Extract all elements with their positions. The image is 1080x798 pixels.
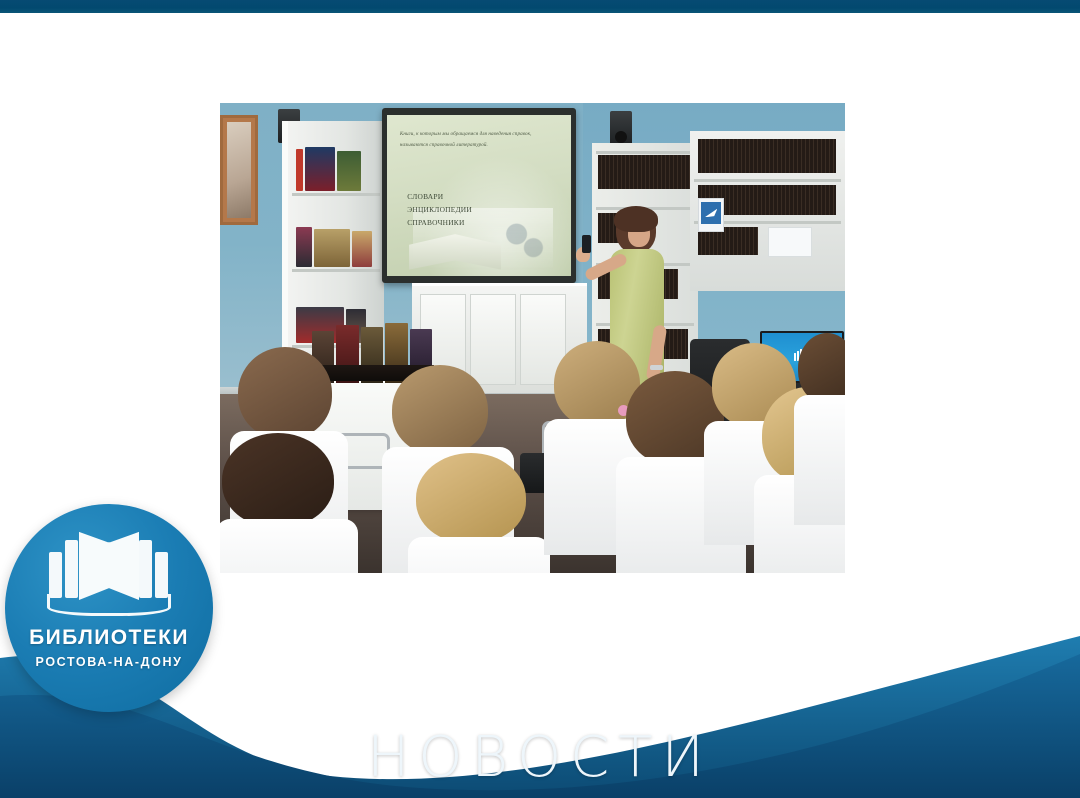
pupil (220, 433, 350, 573)
open-book-icon (41, 532, 177, 616)
projection-screen: Книги, к которым мы обращаемся для навед… (382, 108, 576, 283)
news-banner-title: НОВОСТИ (0, 725, 1080, 790)
slide-paragraph: Книги, к которым мы обращаемся для навед… (400, 129, 560, 150)
presentation-slide: Книги, к которым мы обращаемся для навед… (387, 115, 571, 276)
logo-subtitle: РОСТОВА-НА-ДОНУ (36, 655, 183, 669)
slide-list: СЛОВАРИ ЭНЦИКЛОПЕДИИ СПРАВОЧНИКИ (407, 191, 472, 230)
slide-list-item-2: ЭНЦИКЛОПЕДИИ (407, 204, 472, 217)
wall-poster (698, 198, 724, 232)
photo-scene: Книги, к которым мы обращаемся для навед… (220, 103, 845, 573)
pupil (408, 453, 542, 573)
pupil (798, 333, 845, 513)
news-photo: Книги, к которым мы обращаемся для навед… (220, 103, 845, 573)
framed-picture (220, 115, 258, 225)
logo-title: БИБЛИОТЕКИ (29, 626, 189, 650)
library-logo-badge[interactable]: БИБЛИОТЕКИ РОСТОВА-НА-ДОНУ (5, 504, 213, 712)
speaker-right (610, 111, 632, 145)
top-accent-bar (0, 0, 1080, 13)
slide-list-item-1: СЛОВАРИ (407, 191, 472, 204)
slide-list-item-3: СПРАВОЧНИКИ (407, 217, 472, 230)
